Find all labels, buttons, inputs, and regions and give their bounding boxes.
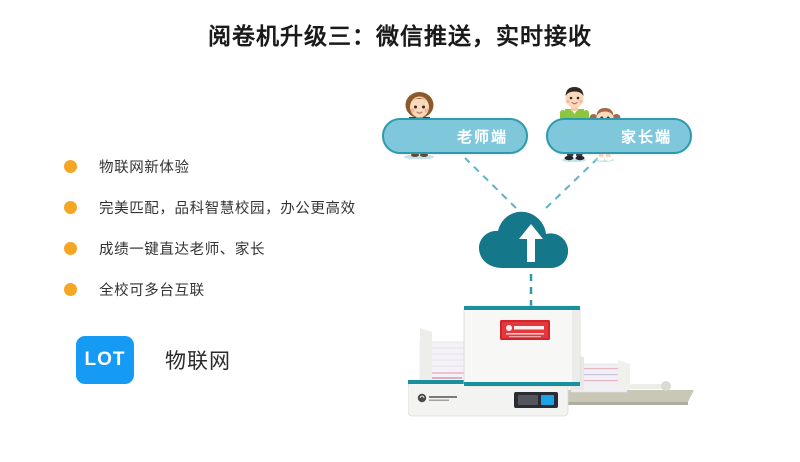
bullet-dot-icon: [64, 283, 77, 296]
iot-badge-icon: LOT: [76, 336, 134, 384]
omr-scanner-machine-icon: [408, 298, 700, 424]
node-teacher-terminal-label: 老师端: [457, 126, 508, 147]
node-parent-terminal-label: 家长端: [621, 126, 672, 147]
bullet-dot-icon: [64, 201, 77, 214]
page-title: 阅卷机升级三：微信推送，实时接收: [0, 17, 800, 51]
iot-badge-label: 物联网: [165, 345, 231, 375]
list-item: 物联网新体验: [60, 146, 400, 187]
feature-bullet-list: 物联网新体验 完美匹配，品科智慧校园，办公更高效 成绩一键直达老师、家长 全校可…: [60, 146, 400, 310]
iot-architecture-diagram: 老师端 家长端: [360, 78, 790, 448]
list-item-label: 成绩一键直达老师、家长: [99, 238, 265, 259]
node-teacher-terminal[interactable]: 老师端: [382, 118, 528, 154]
bullet-dot-icon: [64, 242, 77, 255]
iot-badge-block: LOT 物联网: [76, 336, 231, 384]
list-item-label: 全校可多台互联: [99, 279, 205, 300]
node-parent-terminal[interactable]: 家长端: [546, 118, 692, 154]
list-item-label: 物联网新体验: [99, 156, 190, 177]
list-item: 全校可多台互联: [60, 269, 400, 310]
list-item: 成绩一键直达老师、家长: [60, 228, 400, 269]
cloud-upload-icon: [477, 206, 585, 272]
list-item-label: 完美匹配，品科智慧校园，办公更高效: [99, 197, 356, 218]
slide-canvas: 阅卷机升级三：微信推送，实时接收 物联网新体验 完美匹配，品科智慧校园，办公更高…: [0, 0, 800, 462]
bullet-dot-icon: [64, 160, 77, 173]
list-item: 完美匹配，品科智慧校园，办公更高效: [60, 187, 400, 228]
